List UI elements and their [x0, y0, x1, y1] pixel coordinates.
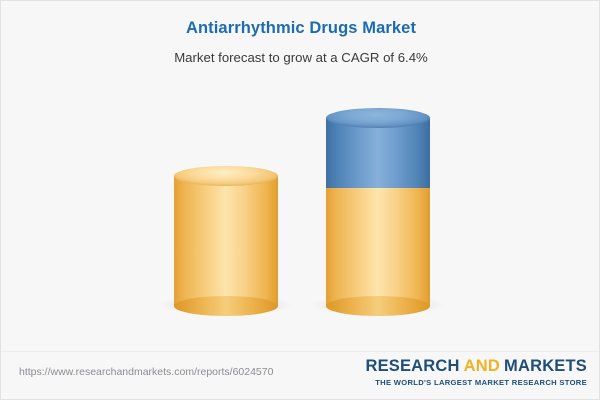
logo-tagline: THE WORLD'S LARGEST MARKET RESEARCH STOR…	[365, 378, 587, 387]
cylinder-top-ellipse	[174, 166, 278, 186]
report-url[interactable]: https://www.researchandmarkets.com/repor…	[19, 366, 273, 378]
logo-word-markets: MARKETS	[504, 357, 587, 375]
cylinder-base-ellipse	[326, 296, 430, 316]
cylinder-segment-base	[174, 176, 278, 306]
logo-word-research: RESEARCH	[365, 357, 459, 375]
cylinder-body	[326, 118, 430, 188]
cylinder-2030	[326, 118, 430, 306]
cylinder-base-ellipse	[174, 296, 278, 316]
research-and-markets-logo[interactable]: RESEARCHANDMARKETS THE WORLD'S LARGEST M…	[365, 358, 587, 387]
cylinder-segment-base	[326, 188, 430, 306]
market-forecast-chart-card: Antiarrhythmic Drugs Market Market forec…	[0, 0, 600, 400]
chart-footer: https://www.researchandmarkets.com/repor…	[1, 351, 600, 399]
logo-word-and: AND	[464, 357, 500, 375]
cylinder-top-ellipse	[326, 108, 430, 128]
cylinder-2024	[174, 176, 278, 306]
cylinder-body	[326, 188, 430, 306]
cylinder-segment-growth	[326, 118, 430, 188]
chart-plot-area: USD 1.1 Billion 2024 USD 1.6 Billion	[1, 1, 600, 353]
logo-wordmark: RESEARCHANDMARKETS	[365, 358, 587, 375]
cylinder-body	[174, 176, 278, 306]
